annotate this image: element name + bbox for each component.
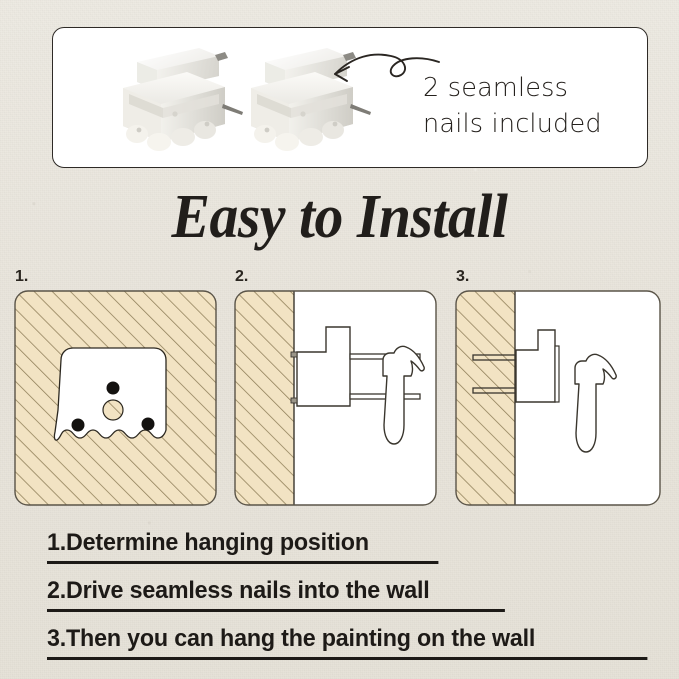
nail-point-right bbox=[142, 418, 155, 431]
step-number-2: 2. bbox=[235, 268, 248, 286]
instruction-text-2: 2.Drive seamless nails into the wall bbox=[47, 577, 430, 604]
instruction-underline-2 bbox=[47, 609, 505, 612]
instruction-line-3: 3.Then you can hang the painting on the … bbox=[47, 625, 535, 653]
caption-line-2: nails included bbox=[423, 106, 638, 142]
instruction-line-1: 1.Determine hanging position bbox=[47, 529, 369, 557]
seamless-nail-photo-1 bbox=[115, 42, 245, 157]
instruction-underline-3 bbox=[47, 657, 647, 660]
instruction-text-3: 3.Then you can hang the painting on the … bbox=[47, 625, 535, 652]
nail-point-top bbox=[107, 382, 120, 395]
page-title: Easy to Install bbox=[24, 186, 655, 248]
wall-cross-section bbox=[455, 290, 515, 506]
caption-line-1: 2 seamless bbox=[423, 70, 638, 106]
step-number-3: 3. bbox=[456, 268, 469, 286]
instruction-underline-1 bbox=[47, 561, 438, 564]
step-3-illustration bbox=[455, 290, 661, 506]
step-1-illustration bbox=[14, 290, 217, 506]
step-number-1: 1. bbox=[15, 268, 28, 286]
instruction-line-2: 2.Drive seamless nails into the wall bbox=[47, 577, 430, 605]
step-2-illustration bbox=[234, 290, 437, 506]
wall-cross-section bbox=[234, 290, 294, 506]
product-caption: 2 seamless nails included bbox=[423, 70, 638, 142]
nail-point-left bbox=[72, 419, 85, 432]
infographic-page: 2 seamless nails included Easy to Instal… bbox=[0, 0, 679, 679]
instruction-text-1: 1.Determine hanging position bbox=[47, 529, 369, 556]
center-hole bbox=[103, 400, 123, 420]
product-card: 2 seamless nails included bbox=[52, 27, 648, 168]
